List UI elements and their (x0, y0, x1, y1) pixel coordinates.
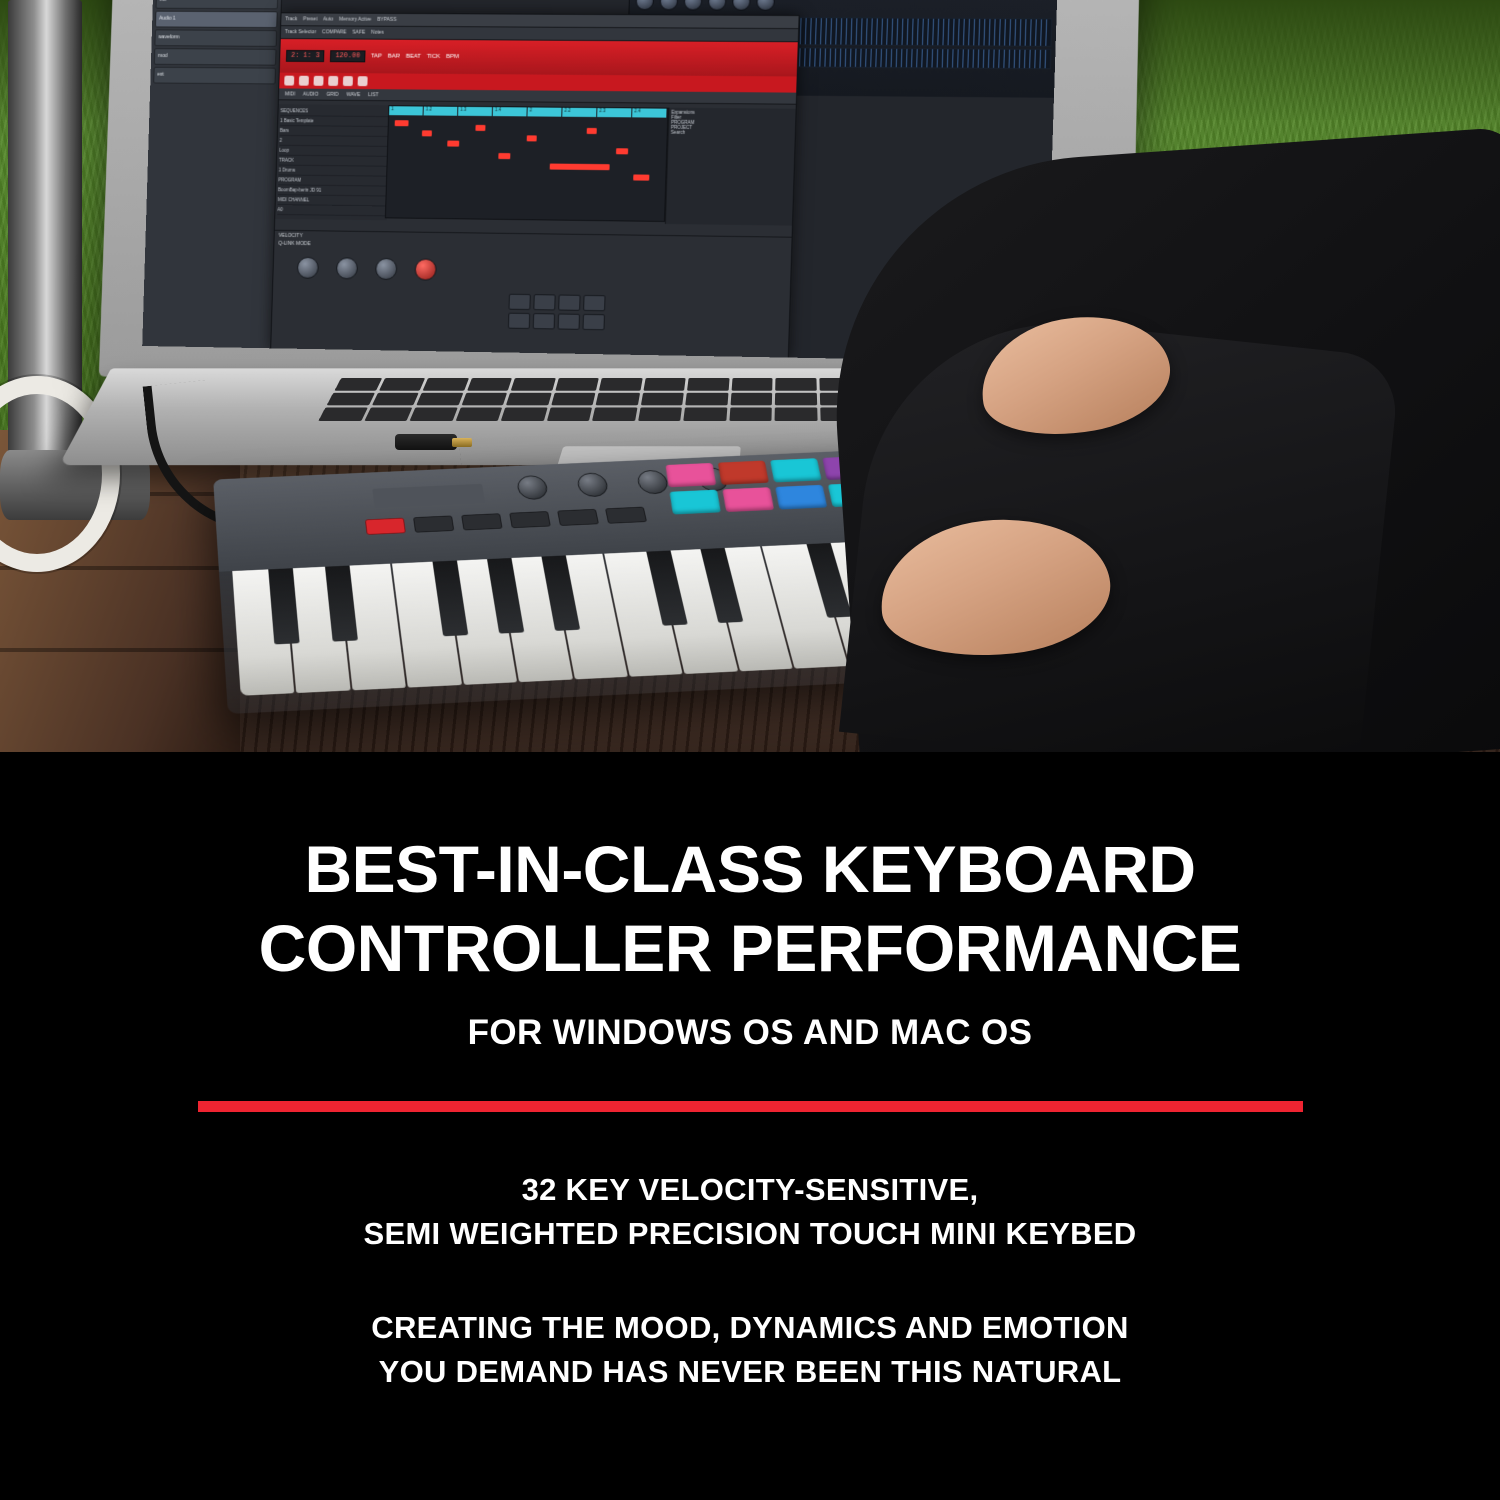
black-key (646, 551, 688, 626)
laptop-key (455, 408, 502, 421)
laptop-key (467, 378, 512, 391)
grid-note (633, 174, 649, 180)
controller-stop-button (461, 513, 502, 530)
synth-knob (756, 0, 775, 11)
synth-knob (660, 0, 679, 10)
laptop-key (729, 408, 772, 421)
tab-midi: MIDI (285, 91, 295, 97)
controller-pad (665, 463, 716, 487)
synth-knob (732, 0, 751, 11)
controller-pad (670, 490, 721, 515)
black-key (700, 548, 743, 623)
mpc-pad (533, 313, 555, 329)
laptop-key (555, 378, 599, 391)
qlink-knob-row (273, 247, 791, 287)
mpc-compare-button: COMPARE (322, 29, 347, 35)
laptop-key (683, 408, 727, 421)
feature-1-line-1: 32 KEY VELOCITY-SENSITIVE, (0, 1168, 1500, 1212)
mpc-bar-label: BAR (388, 54, 400, 60)
mpc-tap-button: TAP (371, 53, 382, 59)
mpc-beats-window: Track Preset Auto Memory Active BYPASS T… (270, 12, 800, 359)
product-photo: clips mod ext Audio 1 waveform mod ext O… (0, 0, 1500, 752)
controller-button (605, 507, 647, 524)
tab-audio: AUDIO (303, 91, 319, 97)
synth-knob (636, 0, 655, 10)
daw-track: mod (154, 48, 277, 66)
grid-col: 1 (389, 106, 424, 115)
daw-track: ext (156, 0, 279, 9)
mpc-pad (508, 313, 530, 329)
mpc-step-sequencer-grid: 1 1.2 1.3 1.4 2 2.2 2.3 2.4 (385, 105, 669, 222)
grid-note (395, 120, 409, 126)
synth-knob (708, 0, 727, 11)
tab-list: LIST (368, 92, 379, 98)
grid-col: 2.4 (632, 108, 667, 117)
laptop-key (730, 393, 772, 406)
laptop-key (775, 378, 816, 391)
feature-2-line-2: YOU DEMAND HAS NEVER BEEN THIS NATURAL (0, 1350, 1500, 1394)
grid-note (527, 135, 537, 141)
mpc-beat-label: BEAT (406, 54, 421, 60)
mpc-pad-section: VELOCITY Q-LINK MODE (271, 230, 791, 359)
grid-note (550, 164, 610, 171)
laptop-key (731, 378, 772, 391)
headline-line-2: CONTROLLER PERFORMANCE (0, 909, 1500, 988)
cable-plug (395, 434, 457, 450)
black-key (541, 555, 580, 630)
mpc-tick-label: TICK (427, 54, 441, 60)
cable-plug-tip (452, 438, 472, 447)
mpc-pad-icon (328, 76, 338, 86)
laptop-key (640, 393, 683, 406)
daw-track: ext (153, 67, 276, 85)
tab-wave: WAVE (346, 91, 360, 97)
grid-col: 2 (527, 107, 562, 116)
laptop-key (501, 408, 547, 421)
tab-grid: GRID (326, 91, 338, 97)
qlink-knob (336, 257, 358, 279)
mpc-notes-button: Notes (371, 30, 384, 36)
mpc-pad (583, 295, 605, 311)
mpc-position-display: 2: 1: 3 (286, 50, 325, 62)
laptop-key (685, 393, 728, 406)
grid-col: 1.2 (424, 107, 459, 116)
mpc-pad (558, 313, 580, 329)
mpc-settings-icon (358, 76, 368, 86)
mpc-tempo-display: 120.00 (330, 50, 365, 62)
mpc-pad (582, 314, 604, 330)
controller-button (557, 509, 599, 526)
feature-text-1: 32 KEY VELOCITY-SENSITIVE, SEMI WEIGHTED… (0, 1168, 1500, 1256)
midi-channel-value: A0 (277, 205, 385, 216)
grid-note (498, 153, 510, 159)
feature-1-line-2: SEMI WEIGHTED PRECISION TOUCH MINI KEYBE… (0, 1212, 1500, 1256)
black-key (487, 558, 524, 634)
mpc-browser-panel: Expansions Filter PROGRAM PROJECT Search (665, 108, 800, 226)
mpc-pad (558, 295, 580, 311)
daw-track: Audio 1 (155, 11, 278, 28)
qlink-knob-highlighted (414, 258, 436, 280)
laptop-key (599, 378, 642, 391)
grid-note (447, 141, 459, 147)
laptop-key (687, 378, 729, 391)
mpc-safe-button: SAFE (352, 30, 365, 36)
headline: BEST-IN-CLASS KEYBOARD CONTROLLER PERFOR… (0, 752, 1500, 987)
laptop-key (643, 378, 686, 391)
browser-search: Search (671, 130, 798, 136)
laptop-key (775, 393, 817, 406)
laptop-key (592, 408, 637, 421)
qlink-knob (297, 257, 319, 279)
mpc-track-selector: Track Selector (285, 29, 316, 35)
mpc-bpm-label: BPM (446, 54, 459, 60)
laptop-key (506, 393, 551, 406)
grid-col: 1.4 (493, 107, 528, 116)
mpc-grid-icon (299, 76, 309, 86)
red-divider (198, 1101, 1303, 1112)
mpc-menu-bypass: BYPASS (377, 17, 396, 23)
headline-line-1: BEST-IN-CLASS KEYBOARD (0, 830, 1500, 909)
grid-note (587, 128, 597, 134)
controller-pad (775, 485, 827, 510)
grid-col: 2.2 (562, 108, 597, 117)
black-key (432, 561, 468, 637)
grid-note (616, 148, 628, 154)
mpc-pad-grid (508, 294, 606, 331)
grid-col: 1.3 (458, 107, 493, 116)
laptop-key (596, 393, 640, 406)
laptop-key (461, 393, 507, 406)
grid-col: 2.3 (597, 108, 632, 117)
feature-2-line-1: CREATING THE MOOD, DYNAMICS AND EMOTION (0, 1306, 1500, 1350)
mpc-sequence-sidebar: SEQUENCES 1 Basic Template Bars 2 Loop T… (275, 104, 390, 220)
mpc-menu-auto: Auto (323, 17, 333, 23)
product-feature-image: clips mod ext Audio 1 waveform mod ext O… (0, 0, 1500, 1500)
mpc-menu-memory: Memory Active (339, 17, 371, 23)
controller-play-button (413, 516, 454, 533)
daw-track-list: clips mod ext Audio 1 waveform mod ext (142, 0, 283, 348)
mpc-mixer-icon (313, 76, 323, 86)
controller-pad (722, 487, 774, 512)
mpc-home-icon (284, 76, 294, 86)
controller-knob (576, 472, 610, 497)
daw-track: waveform (154, 29, 277, 47)
grid-column-headers: 1 1.2 1.3 1.4 2 2.2 2.3 2.4 (389, 106, 667, 117)
qlink-knob (375, 258, 397, 280)
controller-pad (718, 461, 769, 485)
laptop-key (546, 408, 592, 421)
laptop-key (551, 393, 596, 406)
controller-record-button (365, 518, 406, 535)
controller-pad (770, 458, 821, 482)
controller-button (509, 511, 551, 528)
mpc-menu-track: Track (285, 16, 297, 22)
black-key (268, 568, 299, 644)
controller-knob (516, 475, 550, 500)
feature-text-2: CREATING THE MOOD, DYNAMICS AND EMOTION … (0, 1306, 1500, 1394)
black-key (325, 566, 358, 642)
laptop-key (775, 408, 818, 421)
mpc-transport-bar: 2: 1: 3 120.00 TAP BAR BEAT TICK BPM (280, 39, 798, 77)
mpc-pad (508, 294, 530, 310)
synth-knob (684, 0, 703, 11)
grid-note (422, 130, 432, 136)
mpc-browser-icon (343, 76, 353, 86)
laptop-key (638, 408, 682, 421)
subheadline: FOR WINDOWS OS AND MAC OS (0, 1013, 1500, 1053)
laptop-key (511, 378, 556, 391)
mpc-menu-preset: Preset (303, 16, 317, 22)
mpc-pad (533, 294, 555, 310)
marketing-text-panel: BEST-IN-CLASS KEYBOARD CONTROLLER PERFOR… (0, 752, 1500, 1500)
grid-note (475, 125, 485, 131)
controller-knob (635, 470, 670, 495)
